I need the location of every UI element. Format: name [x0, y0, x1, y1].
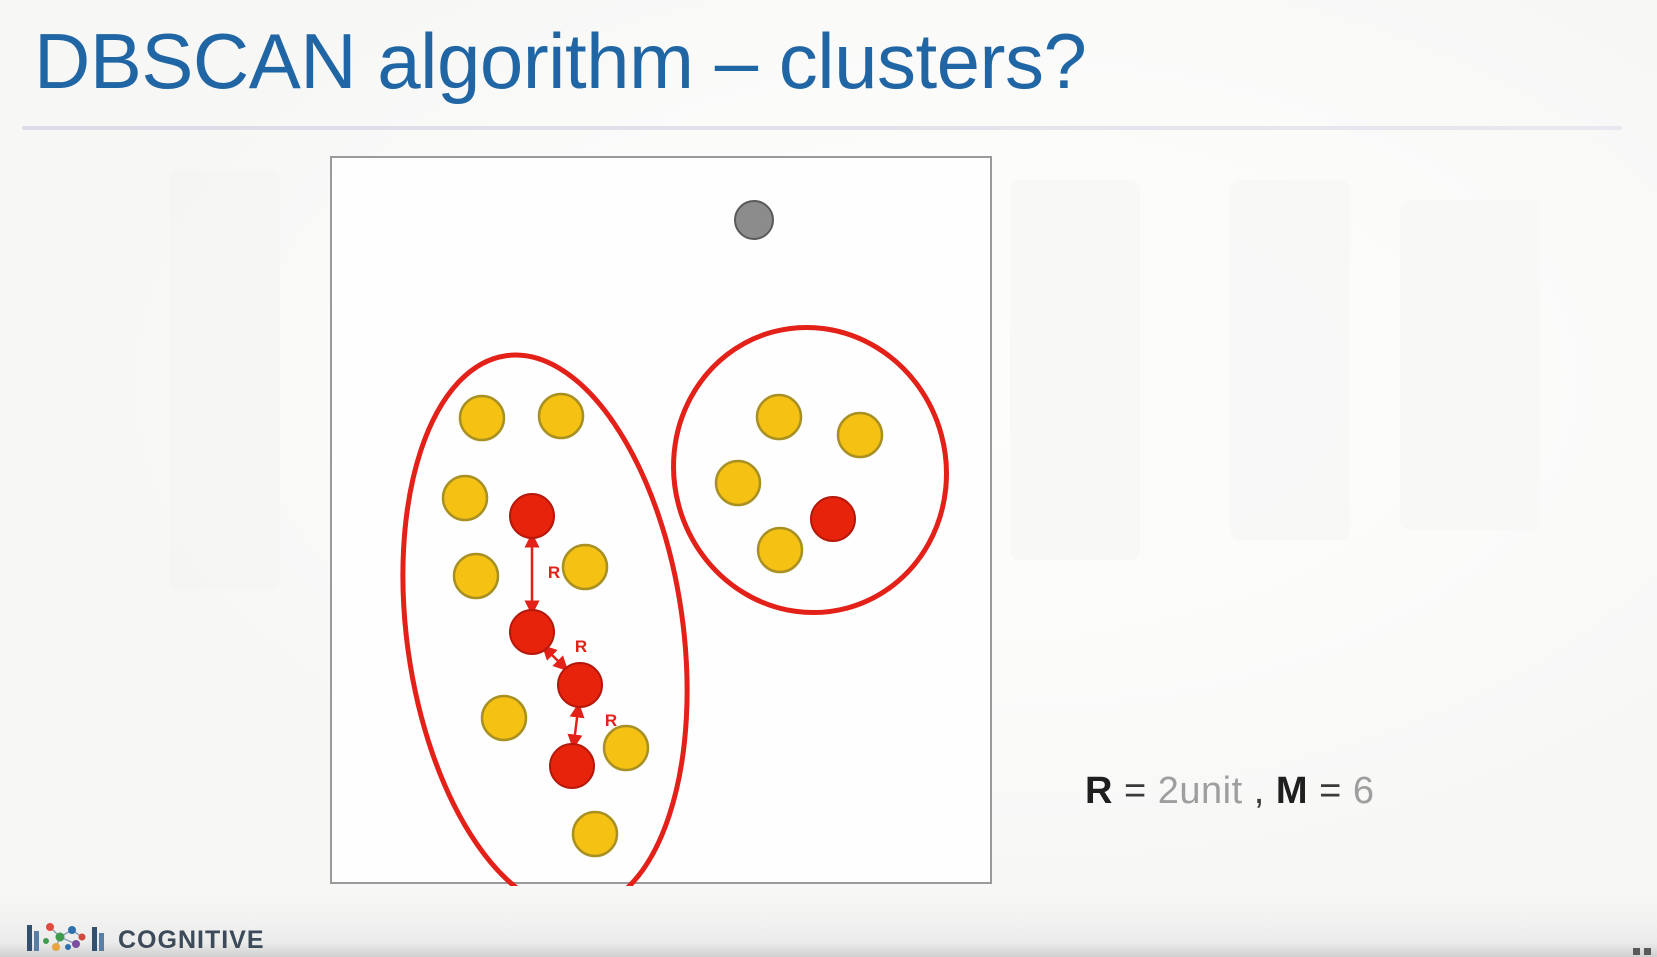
corner-marker	[1633, 948, 1651, 955]
param-m-symbol: M	[1276, 770, 1308, 812]
core-point	[811, 497, 855, 541]
border-point	[716, 461, 760, 505]
border-point	[460, 396, 504, 440]
border-point	[443, 476, 487, 520]
param-m-equals: =	[1319, 770, 1342, 812]
param-separator: ,	[1254, 770, 1265, 812]
scatter-plot-panel: RRR	[330, 156, 992, 884]
border-point	[539, 394, 583, 438]
border-point	[563, 545, 607, 589]
cognitive-class-logo: COGNITIVE	[26, 917, 265, 953]
corner-marker-dash	[1644, 948, 1651, 955]
title-divider	[22, 126, 1622, 130]
border-point	[758, 528, 802, 572]
corner-marker-dash	[1633, 948, 1640, 955]
radius-arrow-1-label: R	[548, 563, 560, 582]
background-artifact	[1230, 180, 1350, 540]
dbscan-scatter-chart: RRR	[332, 158, 994, 886]
slide-root: DBSCAN algorithm – clusters? RRR R = 2un…	[0, 0, 1657, 957]
page-title: DBSCAN algorithm – clusters?	[34, 22, 1086, 100]
border-point	[604, 726, 648, 770]
param-r-equals: =	[1124, 770, 1147, 812]
core-point	[558, 663, 602, 707]
noise-point	[735, 201, 773, 239]
background-artifact	[1010, 180, 1140, 560]
cluster-2-outline	[642, 297, 979, 644]
parameters-text: R = 2unit , M = 6	[1085, 770, 1375, 813]
radius-arrow-2	[547, 650, 563, 666]
radius-arrow-3-label: R	[605, 711, 617, 730]
border-point	[757, 395, 801, 439]
param-r-symbol: R	[1085, 770, 1113, 812]
border-point	[573, 812, 617, 856]
slide-header: DBSCAN algorithm – clusters?	[0, 0, 1657, 140]
core-point	[550, 744, 594, 788]
border-point	[838, 413, 882, 457]
radius-arrow-3	[574, 710, 578, 742]
param-m-value: 6	[1353, 770, 1375, 812]
background-artifact	[1400, 200, 1540, 530]
core-point	[510, 610, 554, 654]
network-nodes-icon	[26, 917, 112, 953]
border-point	[454, 554, 498, 598]
radius-arrow-2-label: R	[575, 637, 587, 656]
logo-text: COGNITIVE	[118, 928, 265, 953]
border-point	[482, 696, 526, 740]
param-r-value: 2unit	[1158, 770, 1243, 812]
core-point	[510, 494, 554, 538]
background-artifact	[170, 170, 280, 590]
